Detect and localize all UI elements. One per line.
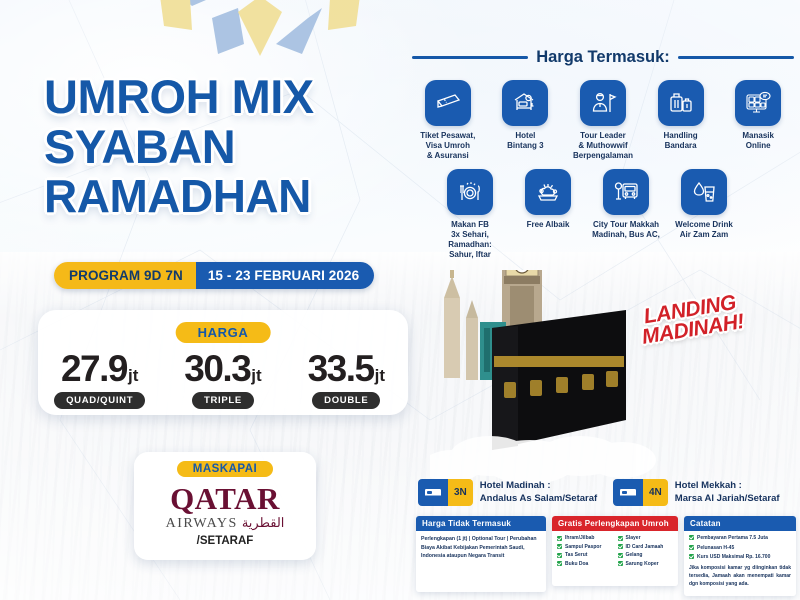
tour-leader-icon (580, 80, 626, 126)
included-item-meal: Makan FB3x Sehari,Ramadhan:Sahur, Iftar (434, 169, 506, 260)
included-caption-citytour: City Tour MakkahMadinah, Bus AC, (590, 220, 662, 240)
included-caption-manasik: ManasikOnline (722, 131, 794, 151)
included-items-grid: Tiket Pesawat,Visa Umroh& Asuransi Hotel… (412, 80, 794, 260)
price-options: 27.9jt QUAD/QUINT 30.3jt TRIPLE 33.5jt D… (38, 350, 408, 409)
free-kit-columns: Ihram/Jilbab Sampul Paspor Tas Serut Buk… (557, 535, 673, 569)
meal-icon (447, 169, 493, 215)
airline-name: QATAR (134, 483, 316, 514)
list-item: Kurs USD Maksimal Rp. 16.700 (689, 554, 791, 562)
chicken-icon (525, 169, 571, 215)
divider-right (678, 56, 794, 59)
list-item: Buku Doa (557, 561, 613, 567)
included-header: Harga Termasuk: (412, 48, 794, 67)
included-title: Harga Termasuk: (536, 48, 670, 67)
check-icon (557, 544, 562, 549)
program-date-label: 15 - 23 FEBRUARI 2026 (196, 262, 374, 289)
airline-setaraf-label: /SETARAF (134, 535, 316, 547)
hotel-madinah-title: Hotel Madinah : (480, 480, 597, 492)
price-amount-double: 33.5jt (287, 350, 405, 387)
included-caption-tour-leader: Tour Leader& MuthowwifBerpengalaman (567, 131, 639, 161)
check-icon (689, 554, 694, 559)
airline-subtitle-ar: القطرية (242, 515, 285, 531)
excluded-title: Harga Tidak Termasuk (416, 516, 546, 531)
list-item: Gelang (618, 552, 674, 558)
price-option-double: 33.5jt DOUBLE (287, 350, 405, 409)
free-kit-box: Gratis Perlengkapan Umroh Ihram/Jilbab S… (552, 516, 678, 586)
included-item-citytour: City Tour MakkahMadinah, Bus AC, (590, 169, 662, 260)
included-caption-hotel: HotelBintang 3 (490, 131, 562, 151)
check-icon (689, 545, 694, 550)
bus-icon (603, 169, 649, 215)
hotel-mekkah-bar: 4N Hotel Mekkah : Marsa Al Jariah/Setara… (613, 479, 780, 506)
check-icon (618, 544, 623, 549)
check-icon (557, 536, 562, 541)
included-caption-albaik: Free Albaik (512, 220, 584, 230)
ticket-icon (425, 80, 471, 126)
list-item: ID Card Jamaah (618, 544, 674, 550)
included-caption-zamzam: Welcome DrinkAir Zam Zam (668, 220, 740, 240)
included-row-1: Tiket Pesawat,Visa Umroh& Asuransi Hotel… (412, 80, 794, 161)
notes-title: Catatan (684, 516, 796, 531)
list-item: Tas Serut (557, 552, 613, 558)
notes-box: Catatan Pembayaran Pertama 7.5 Juta Pelu… (684, 516, 796, 596)
free-kit-body: Ihram/Jilbab Sampul Paspor Tas Serut Buk… (552, 531, 678, 569)
included-caption-meal: Makan FB3x Sehari,Ramadhan:Sahur, Iftar (434, 220, 506, 260)
included-item-zamzam: Welcome DrinkAir Zam Zam (668, 169, 740, 260)
bed-icon (418, 479, 448, 506)
hotel-bed-icon (502, 80, 548, 126)
price-room-quad: QUAD/QUINT (54, 392, 145, 409)
hotel-mekkah-nights: 4N (643, 479, 668, 506)
price-badge: HARGA (176, 322, 271, 343)
price-room-double: DOUBLE (312, 392, 380, 409)
check-icon (689, 535, 694, 540)
check-icon (557, 553, 562, 558)
notes-body: Pembayaran Pertama 7.5 Juta Pelunasan H-… (684, 531, 796, 588)
included-item-luggage: HandlingBandara (645, 80, 717, 161)
hotel-madinah-text: Hotel Madinah : Andalus As Salam/Setaraf (480, 480, 597, 505)
list-item: Sarung Koper (618, 561, 674, 567)
hotel-mekkah-title: Hotel Mekkah : (675, 480, 780, 492)
hotel-mekkah-text: Hotel Mekkah : Marsa Al Jariah/Setaraf (675, 480, 780, 505)
headline-line-2: SYABAN (44, 124, 404, 170)
included-item-tour-leader: Tour Leader& MuthowwifBerpengalaman (567, 80, 639, 161)
notes-paragraph: Jika komposisi kamar yg diinginkan tidak… (689, 564, 791, 589)
list-item: Pelunasan H-45 (689, 545, 791, 553)
poster: UMROH MIX SYABAN RAMADHAN PROGRAM 9D 7N … (0, 0, 800, 600)
free-kit-column-left: Ihram/Jilbab Sampul Paspor Tas Serut Buk… (557, 535, 613, 569)
check-icon (618, 536, 623, 541)
check-icon (618, 553, 623, 558)
included-row-2: Makan FB3x Sehari,Ramadhan:Sahur, Iftar … (434, 169, 794, 260)
included-item-hotel: HotelBintang 3 (490, 80, 562, 161)
airline-badge: MASKAPAI (177, 461, 273, 477)
hotel-madinah-name: Andalus As Salam/Setaraf (480, 493, 597, 505)
airline-card: MASKAPAI QATAR AIRWAYS القطرية /SETARAF (134, 452, 316, 560)
excluded-text: Perlengkapan (1 jt) | Optional Tour | Pe… (421, 535, 541, 561)
included-item-manasik: ManasikOnline (722, 80, 794, 161)
included-item-ticket: Tiket Pesawat,Visa Umroh& Asuransi (412, 80, 484, 161)
price-amount-quad: 27.9jt (41, 350, 159, 387)
list-item: Sampul Paspor (557, 544, 613, 550)
excluded-box: Harga Tidak Termasuk Perlengkapan (1 jt)… (416, 516, 546, 592)
bed-icon (613, 479, 643, 506)
headline-line-3: RAMADHAN (44, 174, 404, 219)
hotel-mekkah-name: Marsa Al Jariah/Setaraf (675, 493, 780, 505)
program-duration-label: PROGRAM 9D 7N (54, 262, 196, 289)
price-room-triple: TRIPLE (192, 392, 254, 409)
hotel-madinah-nights: 3N (448, 479, 473, 506)
price-amount-triple: 30.3jt (164, 350, 282, 387)
hotel-madinah-bar: 3N Hotel Madinah : Andalus As Salam/Seta… (418, 479, 597, 506)
program-date-banner: PROGRAM 9D 7N 15 - 23 FEBRUARI 2026 (54, 262, 374, 289)
list-item: Ihram/Jilbab (557, 535, 613, 541)
airline-subtitle: AIRWAYS القطرية (134, 515, 316, 532)
page-title: UMROH MIX SYABAN RAMADHAN (44, 74, 404, 219)
price-option-quad: 27.9jt QUAD/QUINT (41, 350, 159, 409)
free-kit-title: Gratis Perlengkapan Umroh (552, 516, 678, 531)
list-item: Pembayaran Pertama 7.5 Juta (689, 535, 791, 543)
price-card: HARGA 27.9jt QUAD/QUINT 30.3jt TRIPLE 33… (38, 310, 408, 415)
price-option-triple: 30.3jt TRIPLE (164, 350, 282, 409)
check-icon (618, 561, 623, 566)
airline-subtitle-en: AIRWAYS (166, 516, 238, 532)
excluded-body: Perlengkapan (1 jt) | Optional Tour | Pe… (416, 531, 546, 561)
headline-line-1: UMROH MIX (44, 74, 404, 120)
kaaba-illustration (430, 270, 660, 485)
free-kit-column-right: Slayer ID Card Jamaah Gelang Sarung Kope… (618, 535, 674, 569)
included-caption-luggage: HandlingBandara (645, 131, 717, 151)
video-call-icon (735, 80, 781, 126)
included-item-albaik: Free Albaik (512, 169, 584, 260)
divider-left (412, 56, 528, 59)
islamic-star-ornament-icon (120, 0, 400, 76)
list-item: Slayer (618, 535, 674, 541)
water-glass-icon (681, 169, 727, 215)
check-icon (557, 561, 562, 566)
included-caption-ticket: Tiket Pesawat,Visa Umroh& Asuransi (412, 131, 484, 161)
luggage-icon (658, 80, 704, 126)
